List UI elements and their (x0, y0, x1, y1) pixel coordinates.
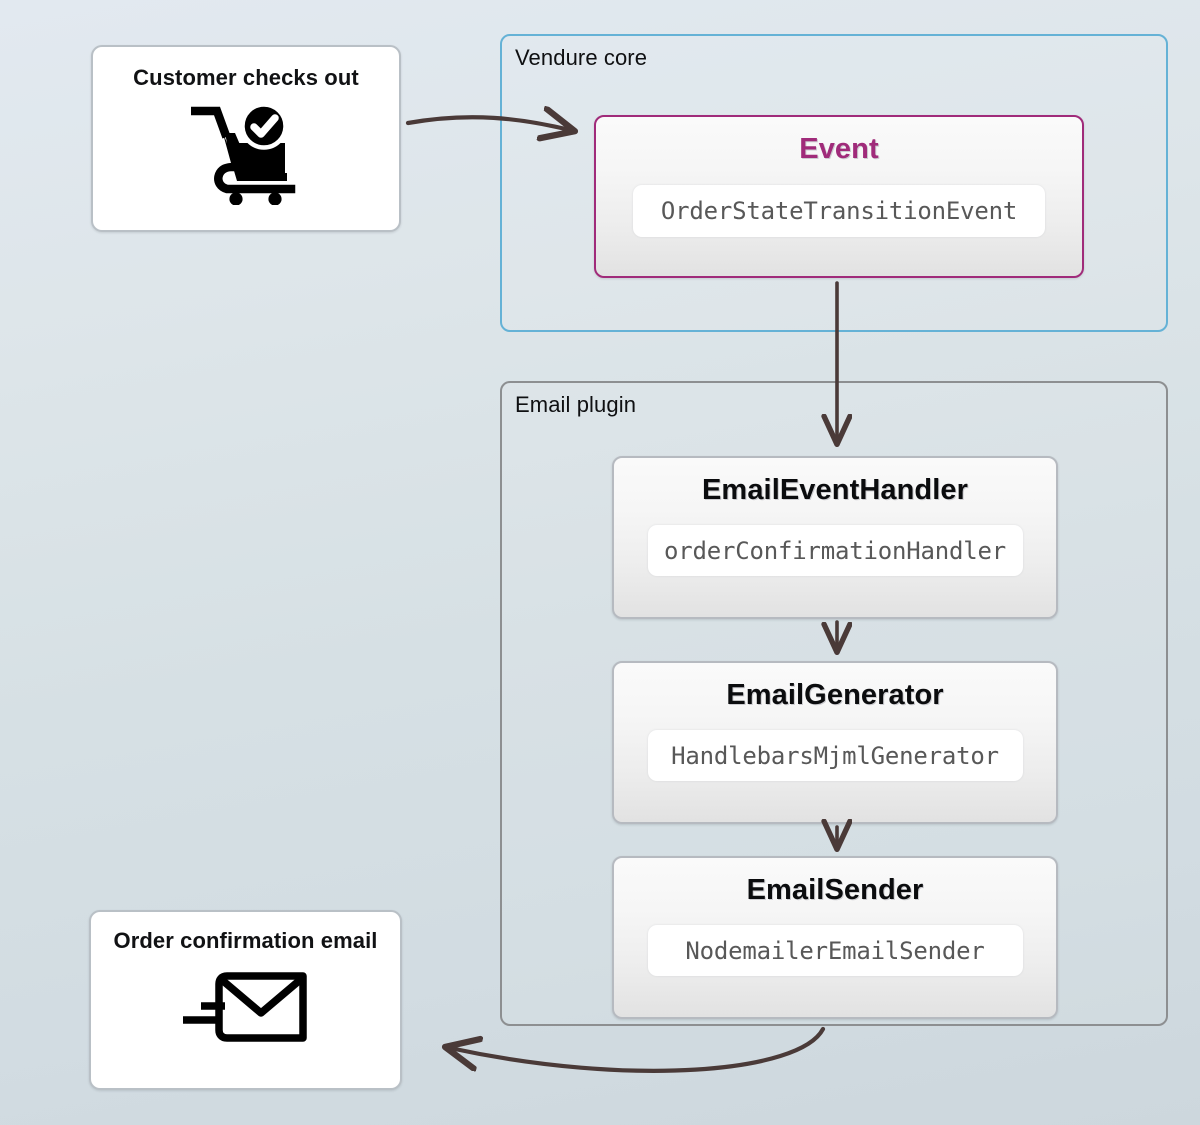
node-emailgenerator[interactable]: EmailGenerator HandlebarsMjmlGenerator (612, 661, 1058, 824)
connector-sender-to-email (450, 1029, 823, 1071)
group-label-email-plugin: Email plugin (515, 392, 636, 418)
node-event[interactable]: Event OrderStateTransitionEvent (594, 115, 1084, 278)
card-title-order-confirmation-email: Order confirmation email (113, 928, 377, 954)
node-title-event: Event (799, 135, 878, 164)
node-title-emailsender: EmailSender (747, 876, 924, 905)
card-order-confirmation-email[interactable]: Order confirmation email (89, 910, 402, 1090)
node-title-emailgenerator: EmailGenerator (726, 681, 943, 710)
card-customer-checks-out[interactable]: Customer checks out (91, 45, 401, 232)
group-label-vendure-core: Vendure core (515, 45, 647, 71)
node-member-emailsender: NodemailerEmailSender (648, 925, 1023, 976)
node-member-emailgenerator: HandlebarsMjmlGenerator (648, 730, 1023, 781)
node-emaileventhandler[interactable]: EmailEventHandler orderConfirmationHandl… (612, 456, 1058, 619)
card-title-customer-checks-out: Customer checks out (133, 65, 359, 91)
node-title-emaileventhandler: EmailEventHandler (702, 476, 968, 505)
node-emailsender[interactable]: EmailSender NodemailerEmailSender (612, 856, 1058, 1019)
node-member-emaileventhandler: orderConfirmationHandler (648, 525, 1023, 576)
shopping-cart-check-icon (191, 103, 301, 205)
email-send-icon (181, 968, 311, 1046)
diagram-canvas: Vendure core Email plugin Customer check… (0, 0, 1200, 1125)
node-member-event: OrderStateTransitionEvent (633, 185, 1045, 237)
